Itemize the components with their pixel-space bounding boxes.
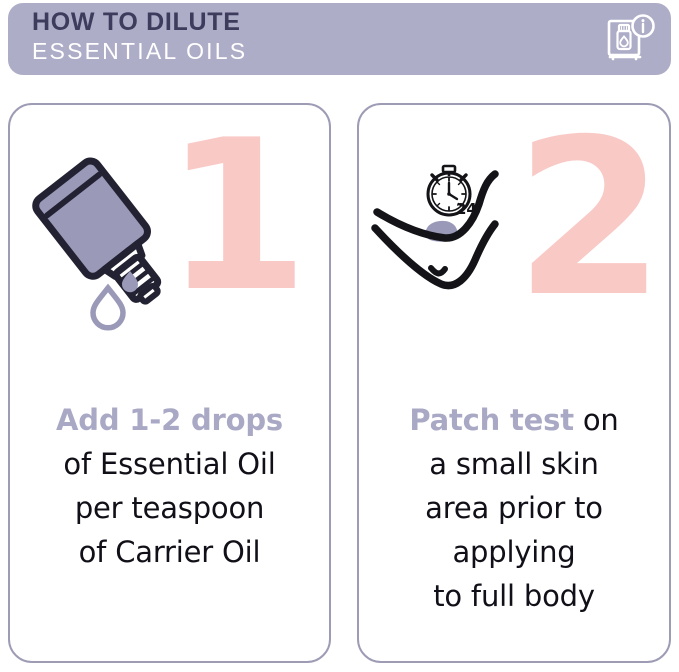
infographic-page: HOW TO DILUTE ESSENTIAL OILS: [0, 0, 679, 672]
card-1-artwork: 1: [10, 105, 329, 335]
step-card-2: 2: [357, 103, 671, 663]
stopwatch-hours-label: 24: [456, 200, 477, 218]
card-2-line-2: area prior to: [367, 486, 661, 530]
essential-oil-bottle-info-icon: [601, 11, 657, 67]
card-2-headline: Patch test on: [367, 398, 661, 442]
step-number-1: 1: [164, 113, 305, 321]
page-title: HOW TO DILUTE: [32, 8, 241, 36]
header-banner: HOW TO DILUTE ESSENTIAL OILS: [8, 3, 671, 75]
card-1-text: Add 1-2 drops of Essential Oil per teasp…: [10, 398, 329, 574]
step-card-1: 1: [8, 103, 331, 663]
tilted-dropper-bottle-with-drops-icon: [24, 143, 194, 338]
card-2-highlight-tail: on: [574, 403, 619, 437]
card-1-line-1: of Essential Oil: [18, 442, 321, 486]
bent-arm-patch-test-stopwatch-icon: 24: [369, 150, 559, 335]
step-number-2: 2: [515, 111, 661, 327]
card-1-highlight: Add 1-2 drops: [18, 398, 321, 442]
card-2-artwork: 2: [359, 105, 669, 335]
card-2-highlight: Patch test: [409, 403, 574, 437]
page-subtitle: ESSENTIAL OILS: [32, 37, 247, 65]
card-2-line-3: applying: [367, 530, 661, 574]
card-1-line-2: per teaspoon: [18, 486, 321, 530]
card-2-text: Patch test on a small skin area prior to…: [359, 398, 669, 618]
card-2-line-4: to full body: [367, 574, 661, 618]
card-2-line-1: a small skin: [367, 442, 661, 486]
card-1-line-3: of Carrier Oil: [18, 530, 321, 574]
